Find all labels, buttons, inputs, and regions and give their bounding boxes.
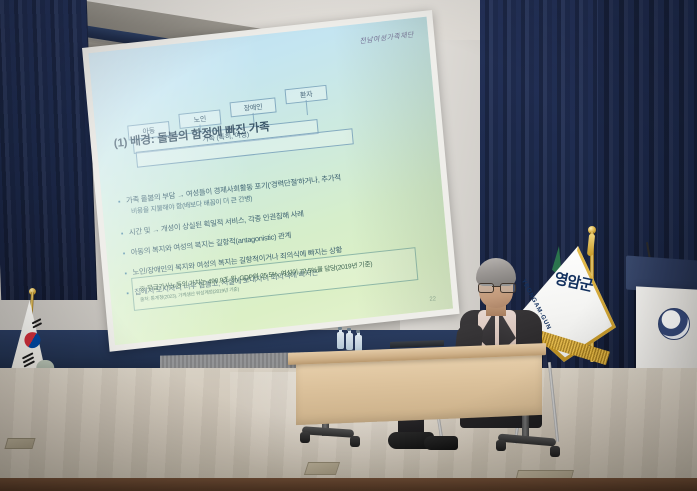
slide-surface: 전남여성가족재단 아동 노인 장애인 환자 가족 (특히, 여성) (1) 배경…	[89, 17, 454, 346]
stage-curtain-left	[0, 0, 97, 300]
bullet-marker: ▪	[122, 249, 125, 259]
photo-scene: 전남여성가족재단 아동 노인 장애인 환자 가족 (특히, 여성) (1) 배경…	[0, 0, 697, 491]
glasses-icon	[478, 283, 514, 291]
bullet-marker: ▪	[121, 229, 124, 239]
bottle-cap	[347, 328, 351, 331]
floor-outlet-plate	[4, 438, 35, 449]
table-caster-wheel	[550, 446, 560, 457]
water-bottle	[346, 333, 353, 350]
table-caster-wheel	[350, 436, 360, 447]
glasses-bridge	[492, 286, 500, 287]
slide-page-number: 22	[429, 296, 436, 303]
diagram-connector	[306, 100, 308, 115]
speaker-hair	[476, 258, 516, 286]
stage-front-edge	[0, 478, 697, 491]
glasses-lens-left	[478, 283, 494, 293]
bullet-marker: ▪	[124, 270, 127, 280]
table-caster-wheel	[496, 440, 506, 451]
projection-screen: 전남여성가족재단 아동 노인 장애인 환자 가족 (특히, 여성) (1) 배경…	[82, 10, 460, 352]
bullet-marker: ▪	[126, 290, 129, 300]
floor-outlet-plate	[304, 462, 340, 475]
slide-logo: 전남여성가족재단	[359, 30, 414, 47]
podium-emblem-icon	[658, 308, 690, 340]
glasses-lens-right	[500, 283, 516, 293]
water-bottle	[337, 332, 344, 349]
bottle-cap	[338, 327, 342, 330]
bullet-marker: ▪	[118, 198, 121, 208]
bottle-cap	[356, 330, 360, 333]
table-modesty-panel	[296, 353, 542, 425]
table-caster-wheel	[300, 432, 310, 443]
